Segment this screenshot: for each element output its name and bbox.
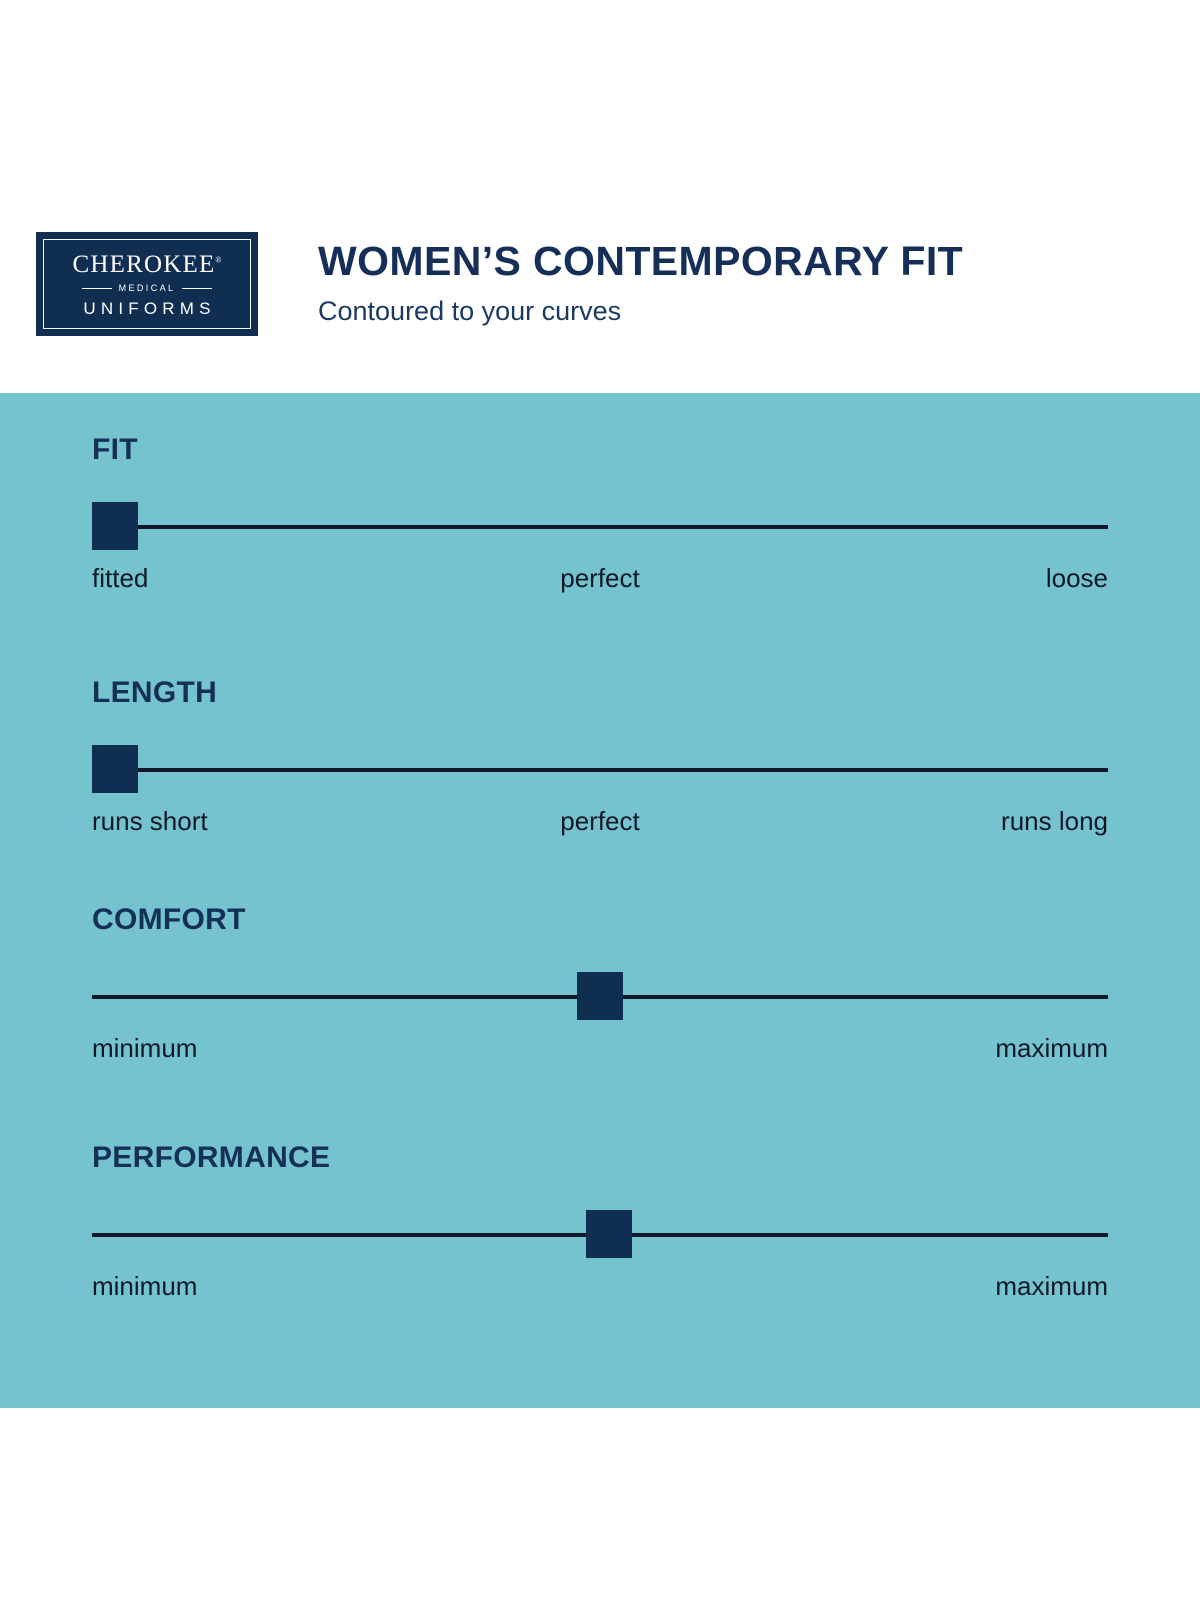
page-title: WOMEN’S CONTEMPORARY FIT (318, 240, 963, 283)
scale-fit-handle[interactable] (92, 502, 138, 550)
scale-comfort: COMFORT minimum maximum (92, 905, 1108, 1066)
scale-comfort-slider[interactable] (92, 972, 1108, 1020)
scale-length-label-right: runs long (1001, 805, 1108, 838)
cherokee-logo: CHEROKEE® MEDICAL UNIFORMS (36, 232, 258, 336)
title-block: WOMEN’S CONTEMPORARY FIT Contoured to yo… (318, 240, 963, 327)
scale-performance: PERFORMANCE minimum maximum (92, 1143, 1108, 1304)
scale-length-slider[interactable] (92, 745, 1108, 793)
scale-comfort-title: COMFORT (92, 905, 1108, 935)
scale-fit-title: FIT (92, 435, 1108, 465)
scale-length-handle[interactable] (92, 745, 138, 793)
scale-performance-slider[interactable] (92, 1210, 1108, 1258)
logo-medical-label: MEDICAL (119, 284, 176, 293)
scale-comfort-label-right: maximum (995, 1032, 1108, 1065)
logo-rule-left-icon (82, 288, 112, 289)
logo-rule-right-icon (182, 288, 212, 289)
scale-length: LENGTH runs short perfect runs long (92, 678, 1108, 839)
scale-length-labels: runs short perfect runs long (92, 805, 1108, 839)
scale-performance-label-left: minimum (92, 1270, 197, 1303)
scale-performance-handle[interactable] (586, 1210, 632, 1258)
scale-performance-title: PERFORMANCE (92, 1143, 1108, 1173)
fit-guide-page: CHEROKEE® MEDICAL UNIFORMS WOMEN’S CONTE… (0, 0, 1200, 1600)
scale-comfort-handle[interactable] (577, 972, 623, 1020)
page-subtitle: Contoured to your curves (318, 297, 963, 327)
scale-length-label-center: perfect (560, 805, 640, 838)
scale-length-label-left: runs short (92, 805, 208, 838)
scale-length-title: LENGTH (92, 678, 1108, 708)
scale-length-track[interactable] (92, 768, 1108, 772)
scale-performance-label-right: maximum (995, 1270, 1108, 1303)
logo-inner-border: CHEROKEE® MEDICAL UNIFORMS (43, 239, 251, 329)
registered-trademark-icon: ® (215, 255, 221, 264)
scale-performance-labels: minimum maximum (92, 1270, 1108, 1304)
scale-fit-label-center: perfect (560, 562, 640, 595)
fit-scales-panel: FIT fitted perfect loose LENGTH runs sho… (0, 393, 1200, 1408)
page-header: CHEROKEE® MEDICAL UNIFORMS WOMEN’S CONTE… (0, 0, 1200, 393)
scale-fit-slider[interactable] (92, 502, 1108, 550)
logo-medical-row: MEDICAL (82, 284, 212, 293)
scale-fit-track[interactable] (92, 525, 1108, 529)
scale-comfort-label-left: minimum (92, 1032, 197, 1065)
scale-fit-label-left: fitted (92, 562, 148, 595)
scale-fit-label-right: loose (1046, 562, 1108, 595)
scale-fit: FIT fitted perfect loose (92, 435, 1108, 596)
logo-brand-name: CHEROKEE® (72, 252, 221, 277)
logo-brand-text: CHEROKEE (72, 251, 215, 278)
scale-fit-labels: fitted perfect loose (92, 562, 1108, 596)
logo-uniforms-label: UNIFORMS (78, 300, 215, 317)
scale-comfort-labels: minimum maximum (92, 1032, 1108, 1066)
